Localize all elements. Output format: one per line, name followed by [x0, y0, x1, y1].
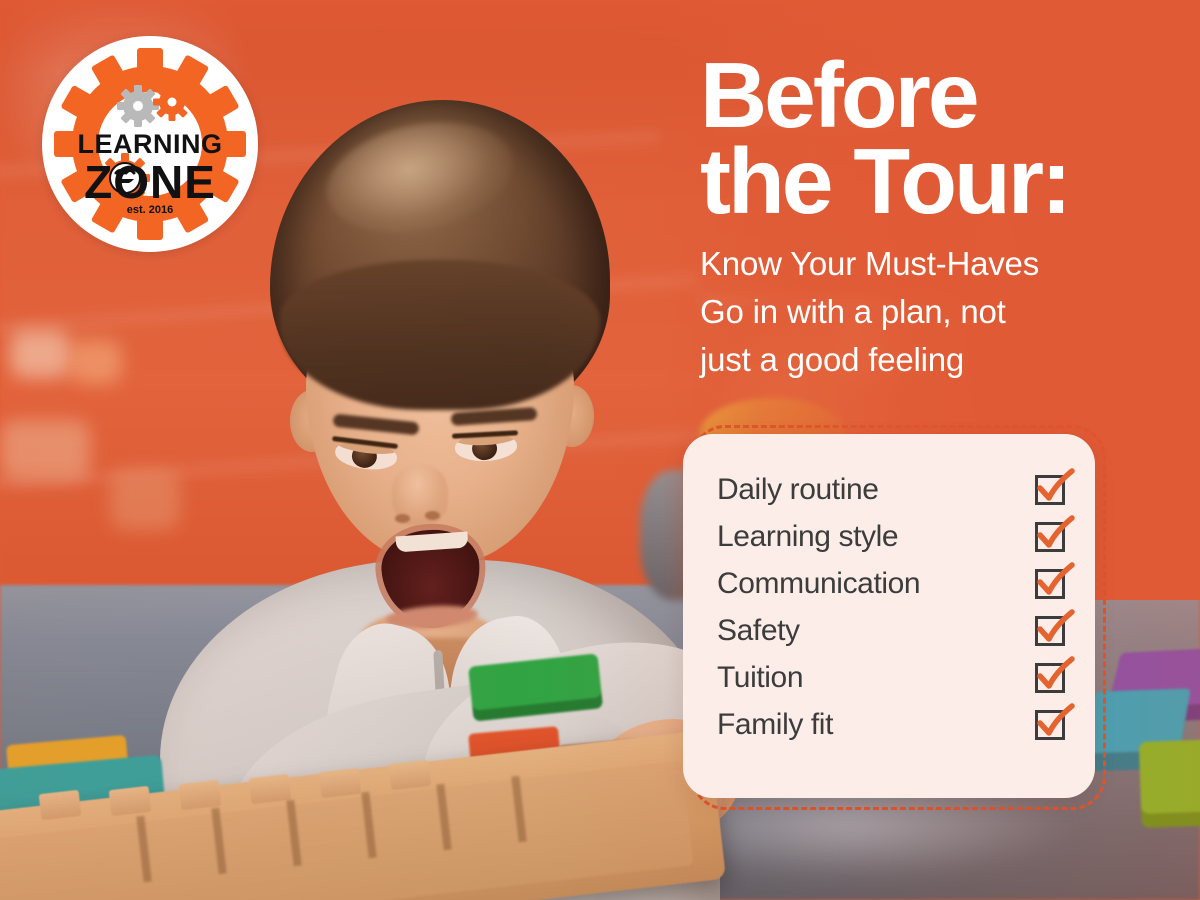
- page-title: Before the Tour:: [700, 52, 1170, 225]
- check-mark-icon: [1032, 699, 1076, 743]
- check-mark-icon: [1032, 464, 1076, 508]
- headline-line-2: the Tour:: [700, 138, 1170, 224]
- subhead-line-1: Know Your Must-Haves: [700, 240, 1170, 288]
- subhead-line-3: just a good feeling: [700, 336, 1170, 384]
- poster-canvas: LEARNING ZONE est. 2016 Before the Tour:…: [0, 0, 1200, 900]
- check-mark-icon: [1032, 511, 1076, 555]
- headline-line-1: Before: [700, 52, 1170, 138]
- checklist: Daily routineLearning styleCommunication…: [683, 434, 1095, 798]
- checklist-item-label: Daily routine: [717, 475, 1035, 505]
- checkbox-checked-icon[interactable]: [1035, 614, 1069, 648]
- brand-logo-badge[interactable]: LEARNING ZONE est. 2016: [42, 36, 258, 252]
- checklist-row[interactable]: Safety: [683, 607, 1095, 654]
- checklist-item-label: Family fit: [717, 710, 1035, 740]
- checkbox-checked-icon[interactable]: [1035, 708, 1069, 742]
- subhead-line-2: Go in with a plan, not: [700, 288, 1170, 336]
- check-mark-icon: [1032, 605, 1076, 649]
- checklist-row[interactable]: Learning style: [683, 513, 1095, 560]
- checkbox-checked-icon[interactable]: [1035, 473, 1069, 507]
- checklist-item-label: Learning style: [717, 522, 1035, 552]
- checklist-item-label: Safety: [717, 616, 1035, 646]
- check-mark-icon: [1032, 652, 1076, 696]
- checklist-row[interactable]: Communication: [683, 560, 1095, 607]
- check-mark-icon: [1032, 558, 1076, 602]
- logo-line-zone: ZONE: [84, 155, 216, 209]
- page-subtitle: Know Your Must-Haves Go in with a plan, …: [700, 240, 1170, 384]
- logo-established: est. 2016: [127, 204, 173, 216]
- checklist-row[interactable]: Family fit: [683, 701, 1095, 748]
- checkbox-checked-icon[interactable]: [1035, 567, 1069, 601]
- checklist-item-label: Tuition: [717, 663, 1035, 693]
- checkbox-checked-icon[interactable]: [1035, 520, 1069, 554]
- checklist-card: Daily routineLearning styleCommunication…: [683, 434, 1095, 798]
- checkbox-checked-icon[interactable]: [1035, 661, 1069, 695]
- checklist-row[interactable]: Tuition: [683, 654, 1095, 701]
- checklist-item-label: Communication: [717, 569, 1035, 599]
- checklist-row[interactable]: Daily routine: [683, 466, 1095, 513]
- logo-wordmark: LEARNING ZONE est. 2016: [42, 36, 258, 252]
